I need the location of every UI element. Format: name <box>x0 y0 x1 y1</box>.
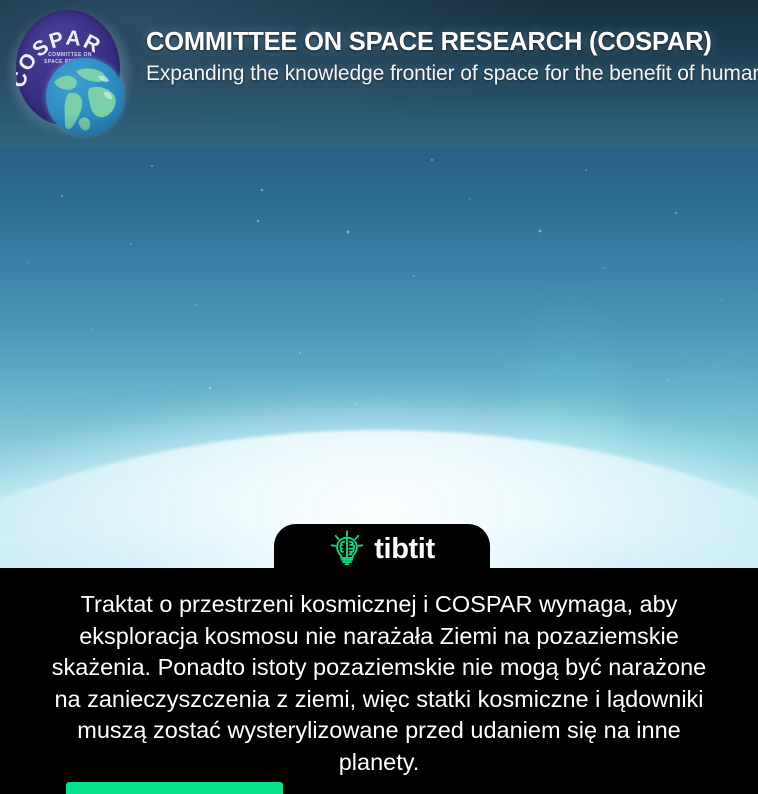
banner-title: COMMITTEE ON SPACE RESEARCH (COSPAR) <box>146 28 712 57</box>
earth-globe-icon <box>46 58 124 136</box>
cospar-logo: COSPAR COMMITTEE ON SPACE RESEARCH <box>6 4 134 142</box>
tibtit-wordmark: tibtit <box>374 535 434 564</box>
cta-button[interactable] <box>66 782 283 794</box>
cospar-banner: COSPAR COMMITTEE ON SPACE RESEARCH <box>0 0 758 148</box>
cospar-logo-subtext-line1: COMMITTEE ON <box>32 52 108 59</box>
fact-text: Traktat o przestrzeni kosmicznej i COSPA… <box>36 589 722 778</box>
tibtit-brand-tab: tibtit <box>274 524 490 572</box>
fact-panel: Traktat o przestrzeni kosmicznej i COSPA… <box>0 568 758 794</box>
lightbulb-brain-icon <box>329 530 365 566</box>
banner-subtitle: Expanding the knowledge frontier of spac… <box>146 62 758 86</box>
tibtit-fact-card-screen: COSPAR COMMITTEE ON SPACE RESEARCH <box>0 0 758 794</box>
